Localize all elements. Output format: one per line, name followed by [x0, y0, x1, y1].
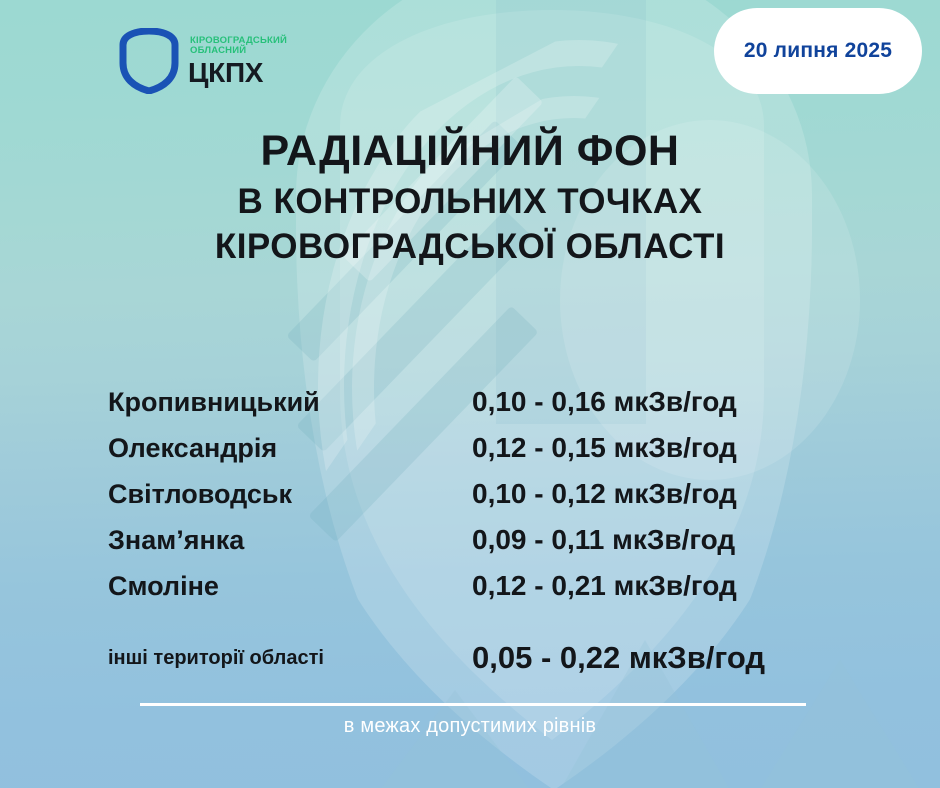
radiation-background-poster: КІРОВОГРАДСЬКИЙ ОБЛАСНИЙ ЦКПХ 20 липня 2… [0, 0, 940, 788]
measurement-row-other-territories: інші території області 0,05 - 0,22 мкЗв/… [108, 635, 832, 681]
dose-value: 0,12 - 0,15 мкЗв/год [472, 432, 737, 464]
shield-leaf-icon [118, 28, 180, 94]
measurement-row: Світловодськ 0,10 - 0,12 мкЗв/год [108, 478, 832, 524]
logo-abbreviation: ЦКПХ [188, 59, 287, 87]
location-label: Кропивницький [108, 387, 472, 418]
measurement-row: Смоліне 0,12 - 0,21 мкЗв/год [108, 570, 832, 616]
location-label: Світловодськ [108, 479, 472, 510]
location-label: Олександрія [108, 433, 472, 464]
logo-line-2: ОБЛАСНИЙ [190, 46, 287, 56]
location-label: інші території області [108, 647, 472, 670]
location-label: Смоліне [108, 571, 472, 602]
organization-logo: КІРОВОГРАДСЬКИЙ ОБЛАСНИЙ ЦКПХ [118, 26, 308, 96]
dose-value: 0,05 - 0,22 мкЗв/год [472, 640, 765, 676]
footer-divider [140, 703, 806, 706]
location-label: Знам’янка [108, 525, 472, 556]
dose-value: 0,10 - 0,12 мкЗв/год [472, 478, 737, 510]
footer-note: в межах допустимих рівнів [0, 715, 940, 738]
title-line-3: КІРОВОГРАДСЬКОЇ ОБЛАСТІ [0, 226, 940, 269]
date-badge-label: 20 липня 2025 [744, 39, 892, 63]
dose-value: 0,12 - 0,21 мкЗв/год [472, 570, 737, 602]
measurement-row: Кропивницький 0,10 - 0,16 мкЗв/год [108, 386, 832, 432]
measurement-row: Знам’янка 0,09 - 0,11 мкЗв/год [108, 524, 832, 570]
measurement-list: Кропивницький 0,10 - 0,16 мкЗв/год Олекс… [108, 386, 832, 681]
logo-line-1: КІРОВОГРАДСЬКИЙ [190, 36, 287, 46]
title-line-2: В КОНТРОЛЬНИХ ТОЧКАХ [0, 181, 940, 224]
dose-value: 0,10 - 0,16 мкЗв/год [472, 386, 737, 418]
date-badge: 20 липня 2025 [714, 8, 922, 94]
page-title: РАДІАЦІЙНИЙ ФОН В КОНТРОЛЬНИХ ТОЧКАХ КІР… [0, 127, 940, 268]
measurement-row: Олександрія 0,12 - 0,15 мкЗв/год [108, 432, 832, 478]
dose-value: 0,09 - 0,11 мкЗв/год [472, 524, 735, 556]
title-line-1: РАДІАЦІЙНИЙ ФОН [0, 127, 940, 177]
logo-wordmark: КІРОВОГРАДСЬКИЙ ОБЛАСНИЙ ЦКПХ [188, 36, 287, 87]
